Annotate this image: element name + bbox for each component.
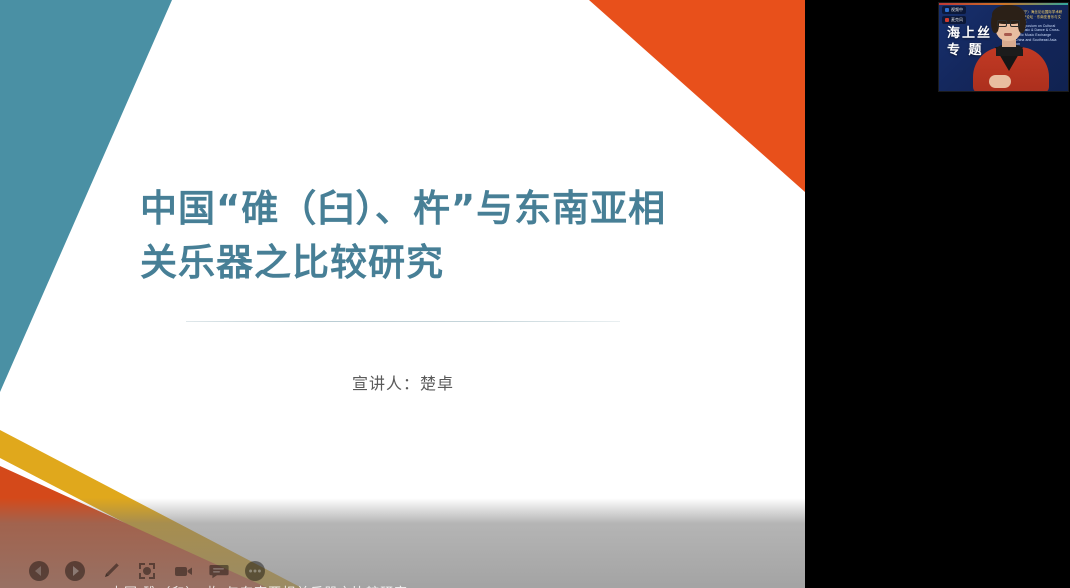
shared-slide[interactable]: 中国“碓（臼）、杵”与东南亚相关乐器之比较研究 宣讲人：楚卓 [0,0,805,588]
video-status-chip-label: 视频中 [951,7,963,13]
glasses-icon [1010,20,1020,27]
slide-title-block: 中国“碓（臼）、杵”与东南亚相关乐器之比较研究 [140,182,680,290]
slide-control-bar[interactable]: 中国“碓（臼）、杵”与东南亚相关乐器之比较研究 [0,554,805,588]
mic-status-chip-label: 麦克风 [951,17,963,23]
mic-status-chip[interactable]: 麦克风 [942,16,966,24]
microphone-icon [945,18,949,22]
video-status-chip[interactable]: 视频中 [942,6,966,14]
speaker-video-tile[interactable]: 海上丝 专 题 2023中国（南宁）海丝论坛国际学术研讨会暨文化遗产论坛 · 东… [938,2,1069,92]
slide-subtitle: 宣讲人：楚卓 [352,370,454,394]
screen-share-viewer: 中国“碓（臼）、杵”与东南亚相关乐器之比较研究 宣讲人：楚卓 [0,0,1070,588]
record-button[interactable] [170,558,196,584]
play-button[interactable] [62,558,88,584]
video-status-chips: 视频中 麦克风 [942,6,966,24]
camera-icon [945,8,949,12]
page-title: 中国“碓（臼）、杵”与东南亚相关乐器之比较研究 [140,182,680,290]
annotate-button[interactable] [98,558,124,584]
focus-button[interactable] [134,558,160,584]
title-divider [186,321,620,322]
previous-slide-button[interactable] [26,558,52,584]
more-button[interactable] [242,558,268,584]
glasses-icon [997,20,1007,27]
video-top-accent [939,3,1069,5]
chat-button[interactable] [206,558,232,584]
control-bar-caption: 中国“碓（臼）、杵”与东南亚相关乐器之比较研究 [110,582,408,588]
